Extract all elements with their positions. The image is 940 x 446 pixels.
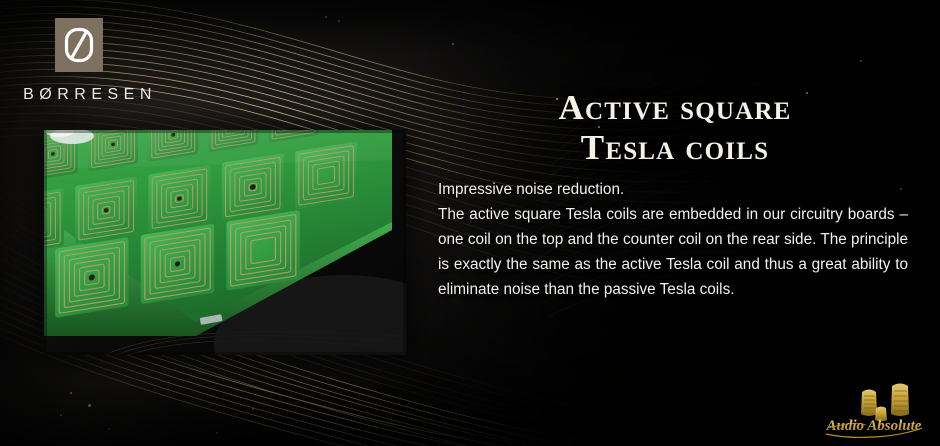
audio-absolute-wordmark: Audio Absolute (826, 418, 922, 434)
pcb-square-tesla-coils-photo (44, 130, 406, 355)
slide-body-copy: Impressive noise reduction. The active s… (438, 177, 908, 302)
slide-title: Active square Tesla coils (440, 88, 910, 167)
slide-title-line-1: Active square (440, 88, 910, 128)
body-lead-line: Impressive noise reduction. (438, 177, 908, 202)
slide-canvas: BØRRESEN (0, 0, 940, 446)
brand-logo: BØRRESEN (20, 18, 160, 104)
brand-wordmark: BØRRESEN (20, 86, 160, 104)
audio-absolute-logo: Audio Absolute (818, 378, 930, 440)
slide-title-line-2: Tesla coils (440, 128, 910, 168)
borresen-o-monogram-icon (55, 18, 103, 72)
body-paragraph: The active square Tesla coils are embedd… (438, 202, 908, 302)
